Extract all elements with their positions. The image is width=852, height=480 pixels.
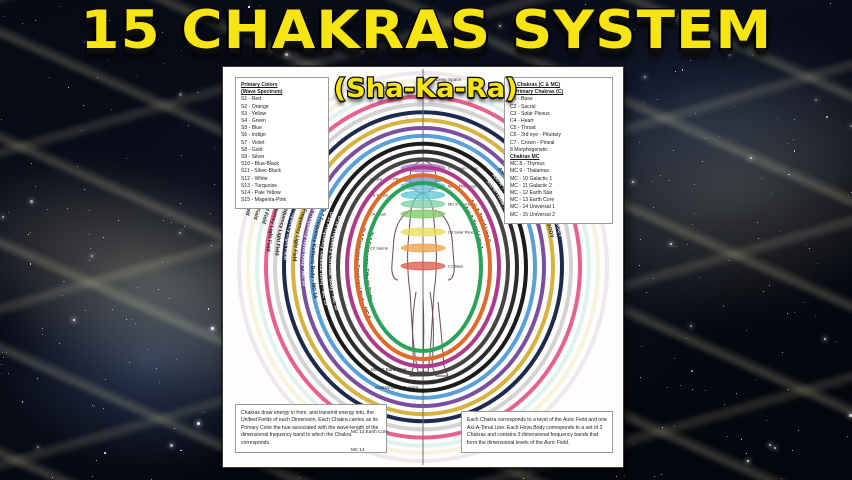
legend-color-item: S2 - Orange (241, 104, 324, 111)
marker-central-current: Central Body Current (375, 385, 418, 390)
legend-color-item: S13 - Turquoise (241, 183, 324, 190)
legend-chakra-item: C2 - Sacral (510, 104, 608, 111)
legend-color-item: S4 - Green (241, 118, 324, 125)
legend-color-item: S14 - Pale Yellow (241, 190, 324, 197)
note-auric-field: Each Chakra corresponds to a level of th… (461, 411, 613, 453)
legend-chakra-item: C7 - Crown - Pineal (510, 140, 608, 147)
page-title: 15 CHAKRAS SYSTEM (0, 2, 852, 60)
legend-mc-chakra-item: MC - 13 Earth Core (510, 197, 608, 204)
legend-chakra-item: C4 - Heart (510, 118, 608, 125)
legend-mc-chakra-item: MC - 11 Galactic 2 (510, 183, 608, 190)
legend-color-item: S15 - Magenta-Pink (241, 197, 324, 204)
legend-right-heading-4: Chakras MC (510, 154, 608, 161)
legend-color-item: S3 - Yellow (241, 111, 324, 118)
screenshot-canvas: 15 CHAKRAS SYSTEM (Sha-Ka-Ra) D-15 Sound… (0, 0, 852, 480)
legend-right-mc-items: MC 8 - ThymusMC 9 - ThalamusMC - 10 Gala… (510, 161, 608, 219)
legend-color-item: S7 - Violet (241, 140, 324, 147)
legend-color-item: S10 - Blue-Black (241, 161, 324, 168)
legend-mc-chakra-item: MC - 15 Universal 2 (510, 212, 608, 219)
legend-mc-chakra-item: MC - 12 Earth Star (510, 190, 608, 197)
chakra-diagram-panel: D-15 Sound FieldAxi-A-Tonal Line 15D-14 … (222, 66, 624, 468)
marker-bottom-last: MC 14 (351, 447, 365, 452)
legend-chakra-item: C6 - 3rd eye - Pituitary (510, 132, 608, 139)
legend-color-item: S9 - Silver (241, 154, 324, 161)
legend-right-heading-3: 8 Morphogenetic (510, 147, 608, 154)
page-subtitle-text: (Sha-Ka-Ra) (334, 74, 518, 104)
legend-left-items: S1 - RedS2 - OrangeS3 - YellowS4 - Green… (241, 96, 324, 204)
legend-color-item: S6 - Indigo (241, 132, 324, 139)
legend-chakra-item: C5 - Throat (510, 125, 608, 132)
marker-bottom-star: MC 12 Earth Star (371, 367, 407, 372)
legend-mc-chakra-item: MC - 10 Galactic 1 (510, 176, 608, 183)
legend-color-item: S8 - Gold (241, 147, 324, 154)
legend-color-item: S11 - Silver-Black (241, 168, 324, 175)
legend-chakra-item: C3 - Solar Plexus (510, 111, 608, 118)
legend-mc-chakra-item: MC 8 - Thymus (510, 161, 608, 168)
legend-color-item: S12 - White (241, 176, 324, 183)
legend-mc-chakra-item: MC - 14 Universal 1 (510, 204, 608, 211)
page-title-text: 15 CHAKRAS SYSTEM (80, 2, 772, 60)
page-subtitle: (Sha-Ka-Ra) (0, 74, 852, 104)
legend-mc-chakra-item: MC 9 - Thalamus (510, 168, 608, 175)
legend-color-item: S5 - Blue (241, 125, 324, 132)
marker-bottom-core: MC 13 Earth Core (351, 429, 388, 434)
